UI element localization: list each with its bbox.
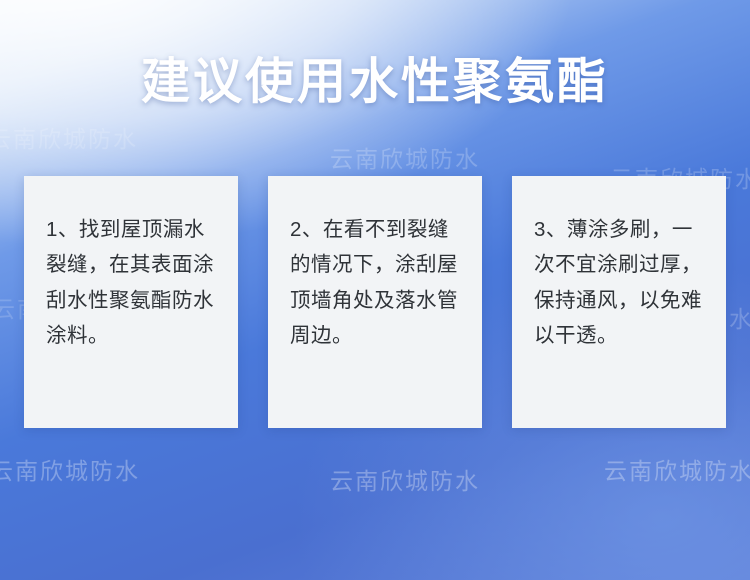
step-card-1-text: 1、找到屋顶漏水裂缝，在其表面涂刮水性聚氨酯防水涂料。 — [46, 212, 216, 353]
poster-title-container: 建议使用水性聚氨酯 — [0, 42, 750, 113]
step-card-2-text: 2、在看不到裂缝的情况下，涂刮屋顶墙角处及落水管周边。 — [290, 212, 460, 353]
step-card-3: 3、薄涂多刷，一次不宜涂刷过厚，保持通风，以免难以干透。 — [512, 176, 726, 428]
watermark-7: 云南欣城防水 — [0, 452, 140, 486]
watermark-8: 云南欣城防水 — [330, 462, 480, 496]
step-card-1: 1、找到屋顶漏水裂缝，在其表面涂刮水性聚氨酯防水涂料。 — [24, 176, 238, 428]
step-card-2: 2、在看不到裂缝的情况下，涂刮屋顶墙角处及落水管周边。 — [268, 176, 482, 428]
watermark-9: 云南欣城防水 — [604, 452, 750, 486]
page-title: 建议使用水性聚氨酯 — [141, 42, 609, 113]
watermark-1: 云南欣城防水 — [0, 120, 138, 154]
poster-canvas: 建议使用水性聚氨酯 1、找到屋顶漏水裂缝，在其表面涂刮水性聚氨酯防水涂料。 2、… — [0, 0, 750, 580]
watermark-2: 云南欣城防水 — [330, 140, 480, 174]
steps-card-list: 1、找到屋顶漏水裂缝，在其表面涂刮水性聚氨酯防水涂料。 2、在看不到裂缝的情况下… — [24, 176, 726, 428]
step-card-3-text: 3、薄涂多刷，一次不宜涂刷过厚，保持通风，以免难以干透。 — [534, 212, 704, 353]
